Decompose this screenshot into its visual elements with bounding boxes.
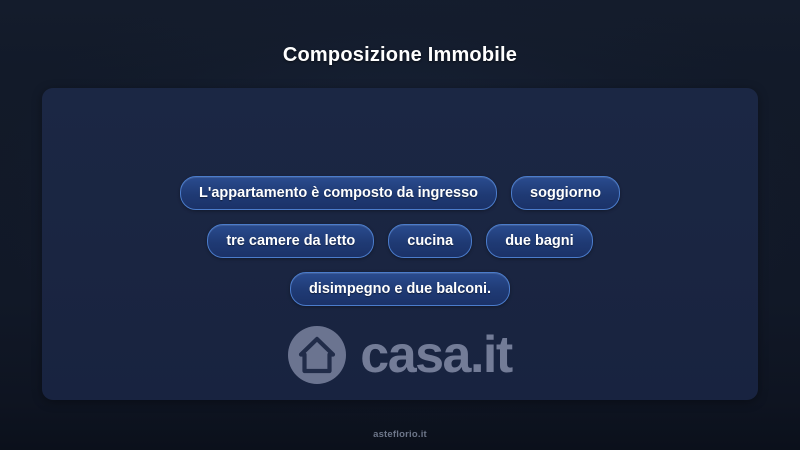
tag-list: L'appartamento è composto da ingresso so…: [42, 176, 758, 320]
tag-chip[interactable]: disimpegno e due balconi.: [290, 272, 510, 306]
screenshot-root: Composizione Immobile L'appartamento è c…: [0, 0, 800, 450]
tag-row: tre camere da letto cucina due bagni: [42, 224, 758, 258]
tag-chip[interactable]: soggiorno: [511, 176, 620, 210]
tag-chip[interactable]: due bagni: [486, 224, 592, 258]
composition-panel: L'appartamento è composto da ingresso so…: [42, 88, 758, 400]
tag-row: L'appartamento è composto da ingresso so…: [42, 176, 758, 210]
casa-it-wordmark: casa.it: [360, 329, 511, 381]
house-circle-icon: [288, 326, 346, 384]
tag-row: disimpegno e due balconi.: [42, 272, 758, 306]
tag-chip[interactable]: L'appartamento è composto da ingresso: [180, 176, 497, 210]
tag-chip[interactable]: cucina: [388, 224, 472, 258]
tag-chip[interactable]: tre camere da letto: [207, 224, 374, 258]
page-title: Composizione Immobile: [0, 44, 800, 67]
casa-it-logo: casa.it: [42, 326, 758, 384]
footer-watermark: asteflorio.it: [0, 429, 800, 440]
